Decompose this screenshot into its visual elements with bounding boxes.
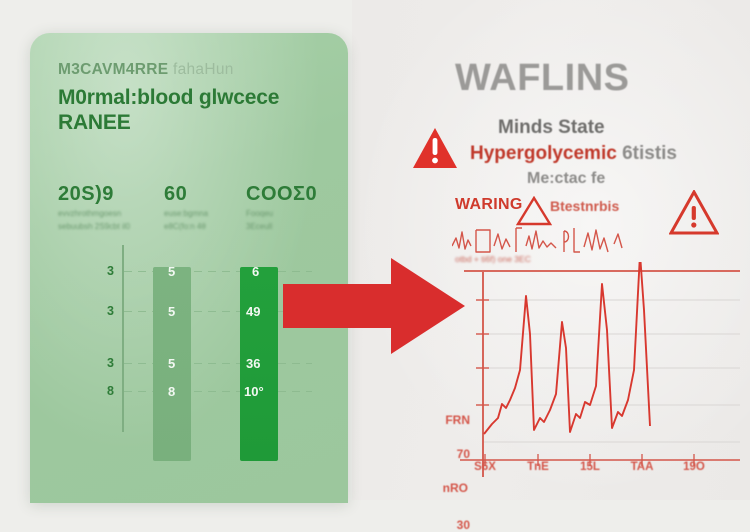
- warning-subtitle-2-red: Hypergolycemic: [470, 143, 617, 164]
- line-x-tick: TnE: [527, 461, 549, 473]
- bar-value-label: 49: [246, 304, 260, 319]
- warning-tag-primary: WARING: [455, 196, 523, 214]
- line-x-tick: S6X: [474, 461, 496, 473]
- bar-y-tick: 3: [92, 264, 114, 278]
- ekg-trace-icon: [452, 222, 682, 256]
- line-chart-x-axis-labels: S6X TnE 15L TAA 19O: [478, 461, 750, 479]
- bar-y-tick: 3: [92, 304, 114, 318]
- warning-subtitle-2: Hypergolycemic 6tistis: [470, 143, 750, 165]
- line-x-tick: 15L: [580, 461, 600, 473]
- line-y-tick: FRN: [434, 413, 470, 427]
- bar-value-label: 6: [252, 264, 259, 279]
- line-y-tick: nRO: [432, 481, 468, 495]
- bar-value-label: 5: [168, 356, 175, 371]
- screenshot-stage: M3CAVM4RRE fahaHun M0rmal:blood glwcece …: [0, 0, 750, 500]
- warning-subtitle-3: Me:ctac fe: [527, 170, 605, 188]
- bar-y-tick: 3: [92, 356, 114, 370]
- bar-value-label: 36: [246, 356, 260, 371]
- line-x-tick: TAA: [631, 461, 654, 473]
- bar-y-tick: 8: [92, 384, 114, 398]
- bar-value-label: 10°: [244, 384, 264, 399]
- warning-subtitle-2-gray: 6tistis: [622, 143, 677, 164]
- bar-value-label: 5: [168, 264, 175, 279]
- bar-value-label: 8: [168, 384, 175, 399]
- glucose-spike-chart: FRN 70 nRO 30: [440, 262, 750, 487]
- spike-line: [484, 262, 650, 434]
- line-x-tick: 19O: [683, 461, 705, 473]
- line-y-tick: 30: [434, 518, 470, 532]
- bar-chart-y-axis: [122, 245, 124, 432]
- warning-heading: WAFLINS: [455, 57, 735, 100]
- warning-tag-secondary: Btestnrbis: [550, 198, 619, 214]
- right-arrow-icon: [283, 258, 465, 354]
- line-chart-svg: [440, 262, 750, 487]
- warning-subtitle-1: Minds State: [498, 117, 738, 139]
- warning-triangle-solid-icon: [412, 127, 458, 169]
- line-y-tick: 70: [434, 447, 470, 461]
- bar-value-label: 5: [168, 304, 175, 319]
